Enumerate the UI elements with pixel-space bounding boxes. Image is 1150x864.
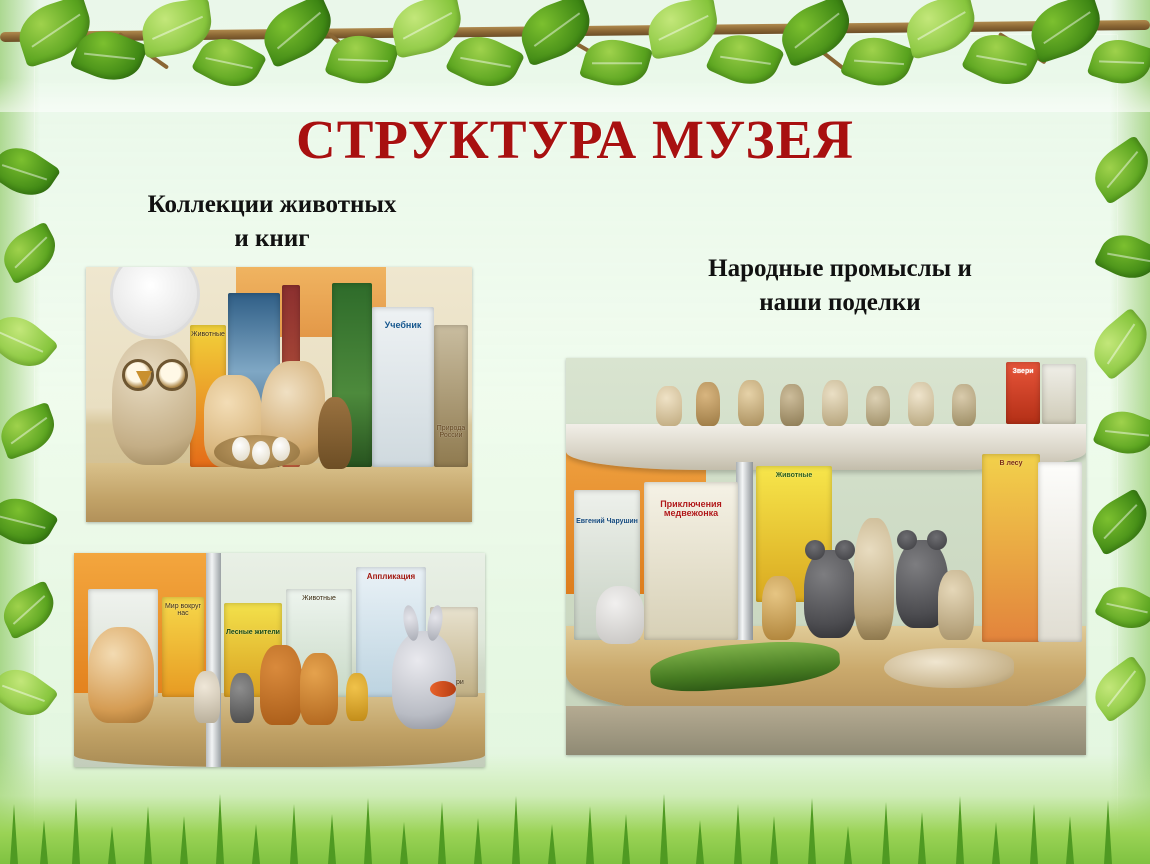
egg	[232, 437, 250, 461]
pine-cone	[318, 397, 352, 469]
book-label: Приключения медвежонка	[644, 500, 738, 519]
book-label: Звери	[1006, 368, 1040, 375]
under-table-books	[566, 706, 1086, 755]
rabbit-figure	[596, 586, 644, 644]
book-label: Животные	[286, 595, 352, 602]
animal-figure	[738, 380, 764, 426]
animal-figure	[938, 570, 974, 640]
book-cover: Учебник	[372, 307, 434, 467]
photo-table-collection: Звери Евгений Чарушин Приключения медвеж…	[566, 358, 1086, 755]
animal-figure	[300, 653, 338, 725]
book-cover: В лесу	[982, 454, 1040, 642]
animal-figure	[656, 386, 682, 426]
animal-figure	[866, 386, 890, 426]
book-label: В лесу	[982, 460, 1040, 467]
book-cover	[1038, 462, 1082, 642]
book-label: Животные	[756, 472, 832, 479]
support-pole	[206, 553, 221, 767]
caption-right: Народные промыслы и наши поделки	[640, 252, 1040, 319]
photo-rabbit-shelf: Мир вокруг нас Лесные жители Животные Ап…	[74, 553, 485, 767]
animal-figure	[780, 384, 804, 426]
book-cover: Звери	[1006, 362, 1040, 424]
owl-figure	[854, 518, 894, 640]
caption-right-line2: наши поделки	[640, 286, 1040, 320]
owl-eye	[156, 359, 188, 391]
animal-figure	[346, 673, 368, 721]
book-label: Природа России	[434, 425, 468, 440]
caption-left: Коллекции животных и книг	[92, 188, 452, 255]
grass-band	[0, 754, 1150, 864]
book-label: Мир вокруг нас	[162, 603, 204, 618]
rabbit-figure	[392, 631, 456, 729]
owl-beak	[136, 371, 152, 387]
animal-figure	[696, 382, 720, 426]
book-label: Животные	[190, 331, 226, 338]
book-label: Аппликация	[356, 573, 426, 581]
book-cover	[1042, 364, 1076, 424]
seal-figure	[884, 648, 1014, 688]
animal-figure	[260, 645, 302, 725]
book-cover: Приключения медвежонка	[644, 482, 738, 640]
egg	[252, 441, 270, 465]
slide: СТРУКТУРА МУЗЕЯ Коллекции животных и кни…	[0, 0, 1150, 864]
bear-figure	[804, 550, 856, 638]
animal-figure	[194, 671, 220, 723]
animal-figure	[908, 382, 934, 426]
book-label: Евгений Чарушин	[574, 518, 640, 525]
egg	[272, 437, 290, 461]
book-label: Учебник	[372, 321, 434, 330]
page-title: СТРУКТУРА МУЗЕЯ	[0, 108, 1150, 171]
animal-figure	[230, 673, 254, 723]
animal-figure	[762, 576, 796, 640]
caption-left-line1: Коллекции животных	[92, 188, 452, 222]
carrot-icon	[430, 681, 456, 697]
book-label: Лесные жители	[224, 629, 282, 636]
photo-owl-shelf: Животные Учебник Природа России	[86, 267, 472, 522]
animal-figure	[822, 380, 848, 426]
owl-toy	[112, 339, 196, 465]
caption-right-line1: Народные промыслы и	[640, 252, 1040, 286]
fox-figure	[88, 627, 154, 723]
animal-figure	[952, 384, 976, 426]
book-cover: Природа России	[434, 325, 468, 467]
caption-left-line2: и книг	[92, 222, 452, 256]
support-pole	[736, 462, 753, 640]
